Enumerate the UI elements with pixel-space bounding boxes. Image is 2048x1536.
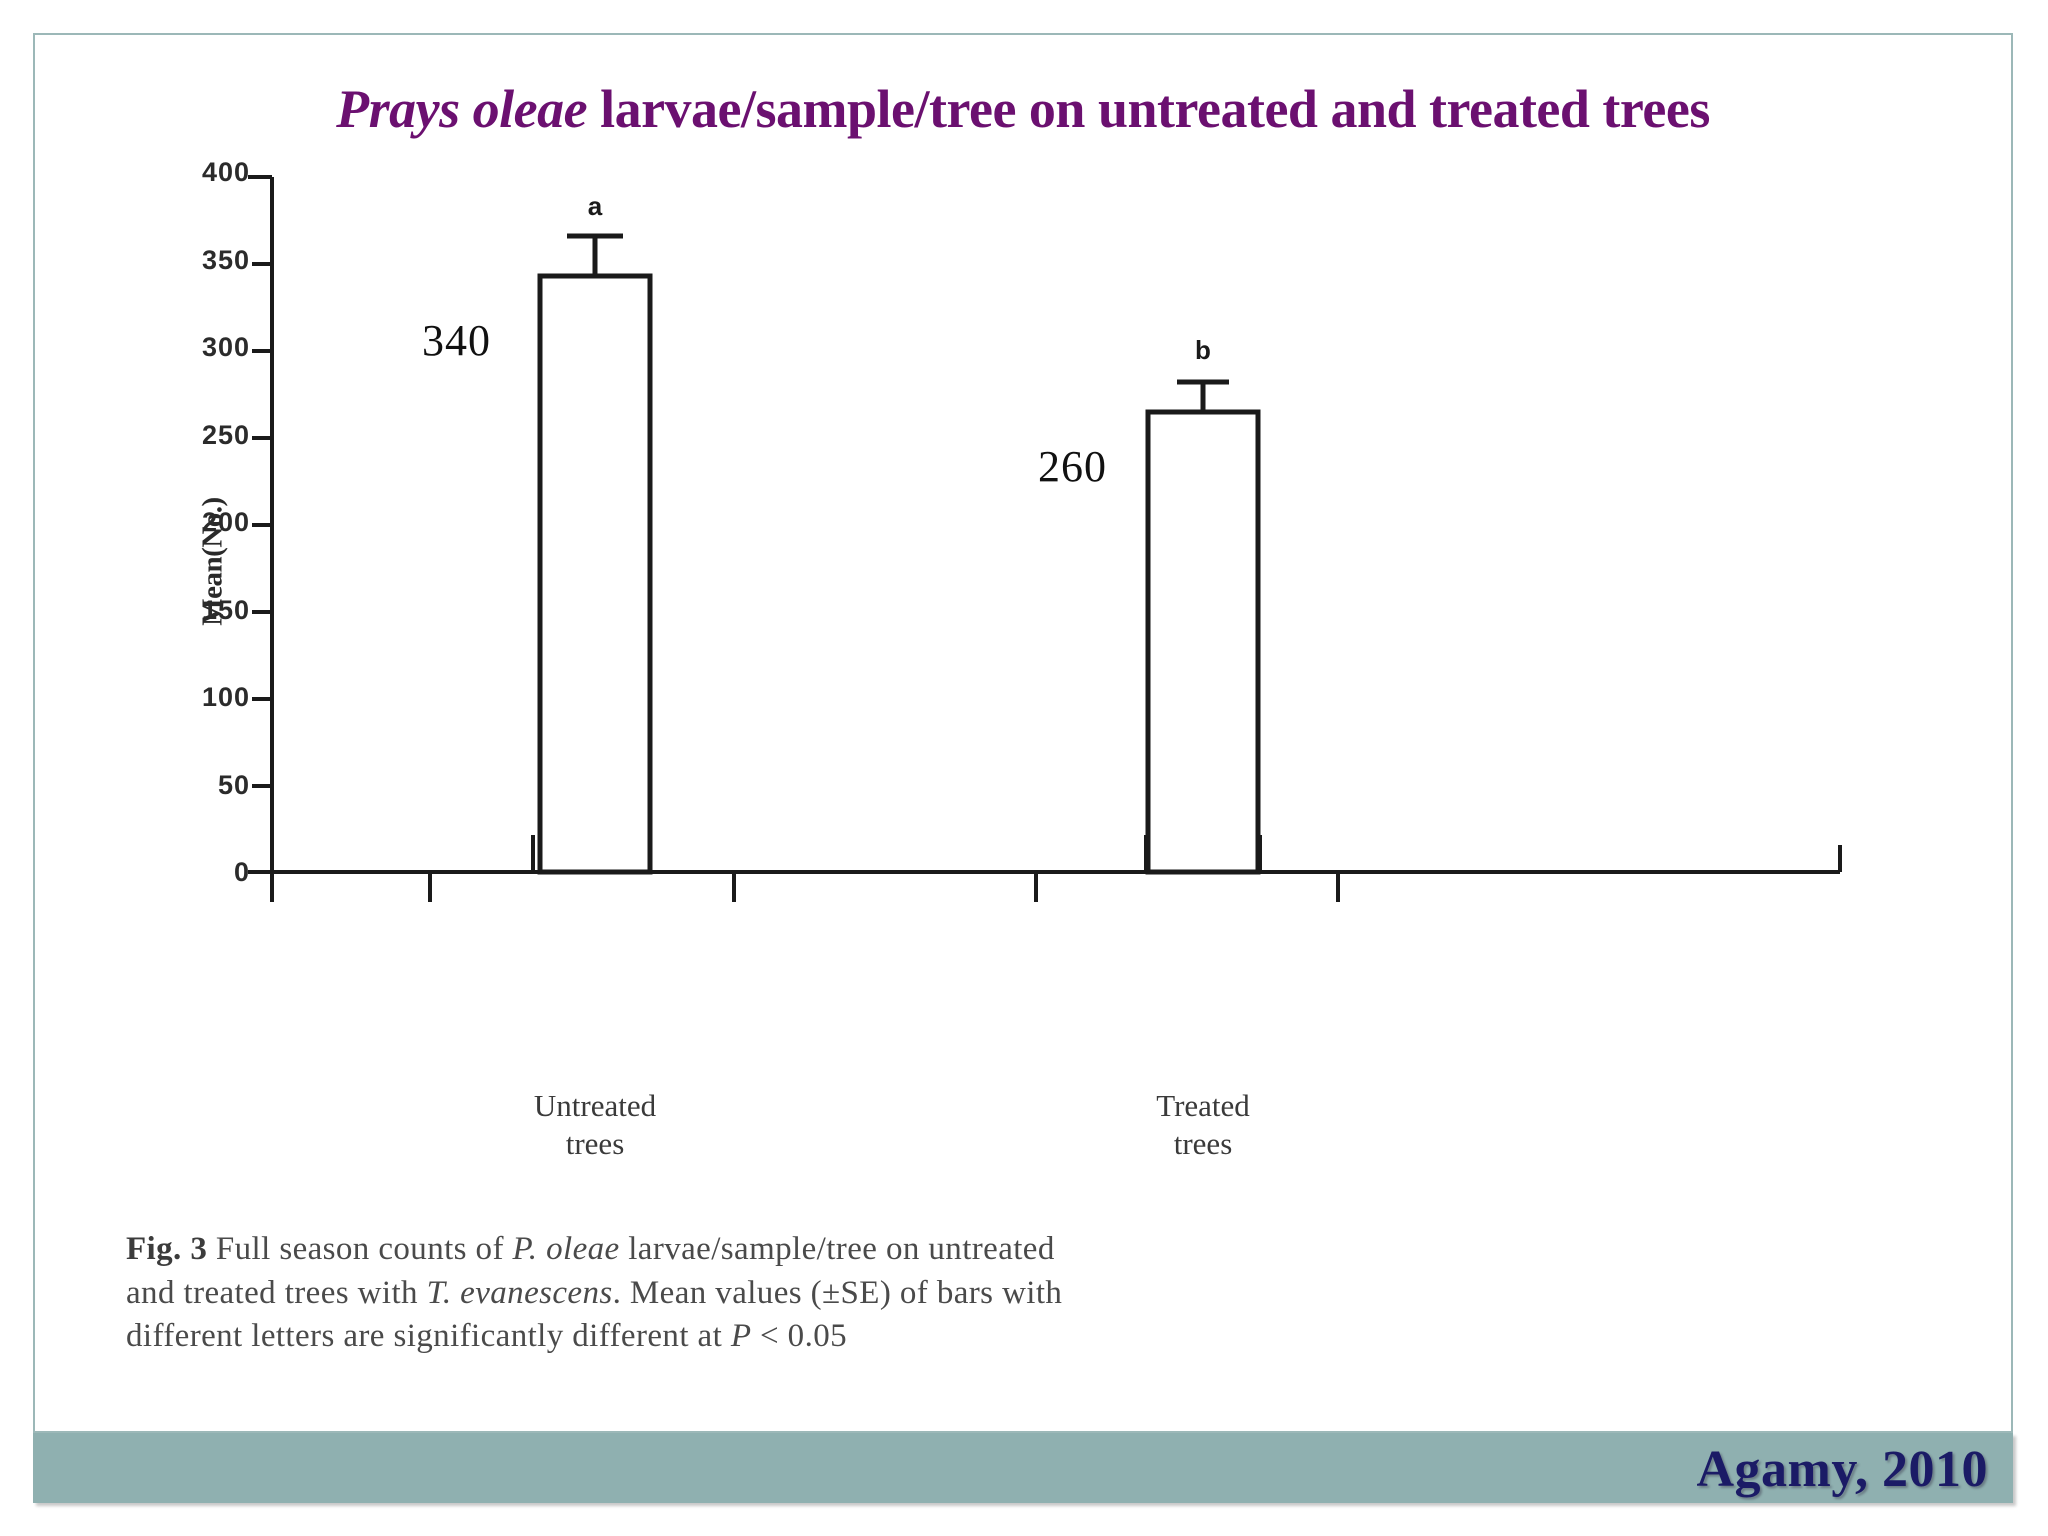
- caption-line2-a: and treated trees with: [126, 1275, 427, 1311]
- caption-line2-species: T. evanescens: [427, 1275, 613, 1311]
- caption-line1-species: P. oleae: [513, 1231, 620, 1267]
- figure-bar-chart: Mean(No.) 400 350 300 250 200 150 100 50…: [120, 175, 1880, 1375]
- caption-line2-b: . Mean values (±SE) of bars with: [613, 1275, 1063, 1311]
- bar-treated-trees: [1148, 412, 1258, 872]
- data-label-untreated-trees: 340: [422, 315, 491, 366]
- title-rest: larvae/sample/tree on untreated and trea…: [587, 79, 1710, 139]
- x-category-label-treated-trees: Treated trees: [1033, 1087, 1373, 1163]
- significance-letter-a: a: [565, 191, 625, 222]
- page-title: Prays oleae larvae/sample/tree on untrea…: [33, 78, 2013, 140]
- y-axis-ticks: [248, 177, 272, 872]
- x-category-label-untreated-trees: Untreated trees: [425, 1087, 765, 1163]
- caption-fig-number: Fig. 3: [126, 1231, 207, 1267]
- data-label-treated-trees: 260: [1038, 441, 1107, 492]
- caption-line1-b: larvae/sample/tree on untreated: [620, 1231, 1055, 1267]
- plot-area: [120, 175, 1880, 1175]
- error-bar-treated-trees: [1177, 382, 1229, 412]
- x-category-line-2: trees: [425, 1125, 765, 1163]
- x-category-line-1: Treated: [1033, 1087, 1373, 1125]
- figure-caption: Fig. 3 Full season counts of P. oleae la…: [126, 1228, 1926, 1359]
- title-species: Prays oleae: [336, 79, 587, 139]
- x-category-line-1: Untreated: [425, 1087, 765, 1125]
- caption-line-2: and treated trees with T. evanescens. Me…: [126, 1272, 1926, 1316]
- significance-letter-b: b: [1173, 335, 1233, 366]
- error-bar-untreated-trees: [567, 236, 623, 276]
- caption-line3-p: P: [731, 1318, 752, 1354]
- footer-citation: Agamy, 2010: [1697, 1440, 1989, 1499]
- caption-line-1: Fig. 3 Full season counts of P. oleae la…: [126, 1228, 1926, 1272]
- caption-line-3: different letters are significantly diff…: [126, 1315, 1926, 1359]
- caption-line3-b: < 0.05: [751, 1318, 847, 1354]
- slide: Prays oleae larvae/sample/tree on untrea…: [0, 0, 2048, 1536]
- caption-line3-a: different letters are significantly diff…: [126, 1318, 731, 1354]
- caption-line1-a: Full season counts of: [207, 1231, 512, 1267]
- bar-untreated-trees: [540, 276, 650, 872]
- x-category-line-2: trees: [1033, 1125, 1373, 1163]
